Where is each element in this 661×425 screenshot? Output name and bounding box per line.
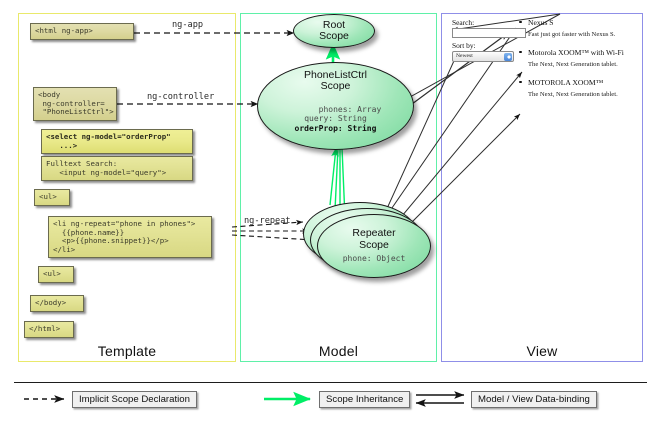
- scope-phonelistctrl-title-2: Scope: [321, 80, 351, 92]
- code-box-ul-open-tag[interactable]: <ul>: [34, 189, 70, 206]
- code-box-body-tag[interactable]: <body ng-controller= "PhoneListCtrl">: [33, 87, 117, 121]
- sort-select-value: Newest: [456, 53, 473, 59]
- scope-phonelistctrl-title-1: PhoneListCtrl: [304, 69, 367, 81]
- code-box-html-tag[interactable]: <html ng-app>: [30, 23, 134, 40]
- view-phone-list: Nexus S Fast just got faster with Nexus …: [528, 18, 624, 108]
- scope-phonelistctrl-props-bold: orderProp: String: [295, 124, 377, 133]
- phone-snippet: Fast just got faster with Nexus S.: [528, 31, 624, 39]
- code-box-body-close-tag[interactable]: </body>: [30, 295, 84, 312]
- list-item[interactable]: MOTOROLA XOOM™ The Next, Next Generation…: [528, 78, 624, 99]
- bullet-icon: [519, 51, 522, 54]
- scope-root[interactable]: Root Scope: [293, 14, 375, 48]
- legend-label-scope-inheritance: Scope Inheritance: [319, 391, 410, 408]
- list-item[interactable]: Nexus S Fast just got faster with Nexus …: [528, 18, 624, 39]
- edge-label-ng-repeat: ng-repeat: [244, 216, 291, 226]
- search-label: Search:: [452, 18, 522, 27]
- code-box-input-tag[interactable]: Fulltext Search: <input ng-model="query"…: [41, 156, 193, 181]
- edge-label-ng-controller: ng-controller: [147, 92, 214, 102]
- phone-name: Motorola XOOM™ with Wi-Fi: [528, 48, 624, 57]
- code-box-ul-close-tag[interactable]: <ul>: [38, 266, 74, 283]
- legend: Implicit Scope Declaration Scope Inherit…: [14, 382, 647, 416]
- scope-root-title-2: Scope: [319, 30, 349, 42]
- phone-name: Nexus S: [528, 18, 624, 27]
- scope-repeater[interactable]: Repeater Scope phone: Object: [317, 214, 431, 278]
- scope-root-title-1: Root: [323, 19, 345, 31]
- code-box-li-repeat-tag[interactable]: <li ng-repeat="phone in phones"> {{phone…: [48, 216, 212, 258]
- scope-repeater-title-1: Repeater: [352, 227, 395, 239]
- sort-select[interactable]: Newest: [452, 51, 514, 62]
- search-input[interactable]: [452, 28, 526, 38]
- bullet-icon: [519, 81, 522, 84]
- phone-snippet: The Next, Next Generation tablet.: [528, 91, 624, 99]
- scope-repeater-props: phone: Object: [343, 254, 406, 263]
- scope-repeater-title-2: Scope: [359, 239, 389, 251]
- diagram-canvas: Template Model View: [0, 0, 661, 425]
- chevron-updown-icon: [504, 53, 512, 61]
- sort-label: Sort by:: [452, 41, 522, 50]
- legend-label-implicit-scope-declaration: Implicit Scope Declaration: [72, 391, 197, 408]
- view-search-controls: Search: Sort by: Newest: [452, 18, 522, 62]
- scope-phonelistctrl-props: phones: Array query: String: [304, 105, 381, 123]
- legend-label-model-view-data-binding: Model / View Data-binding: [471, 391, 597, 408]
- phone-snippet: The Next, Next Generation tablet.: [528, 61, 624, 69]
- code-box-select-tag[interactable]: <select ng-model="orderProp" ...>: [41, 129, 193, 154]
- edge-label-ng-app: ng-app: [172, 20, 203, 30]
- code-box-html-close-tag[interactable]: </html>: [24, 321, 74, 338]
- scope-phonelistctrl[interactable]: PhoneListCtrl Scope phones: Array query:…: [257, 62, 414, 150]
- phone-name: MOTOROLA XOOM™: [528, 78, 624, 87]
- bullet-icon: [519, 21, 522, 24]
- list-item[interactable]: Motorola XOOM™ with Wi-Fi The Next, Next…: [528, 48, 624, 69]
